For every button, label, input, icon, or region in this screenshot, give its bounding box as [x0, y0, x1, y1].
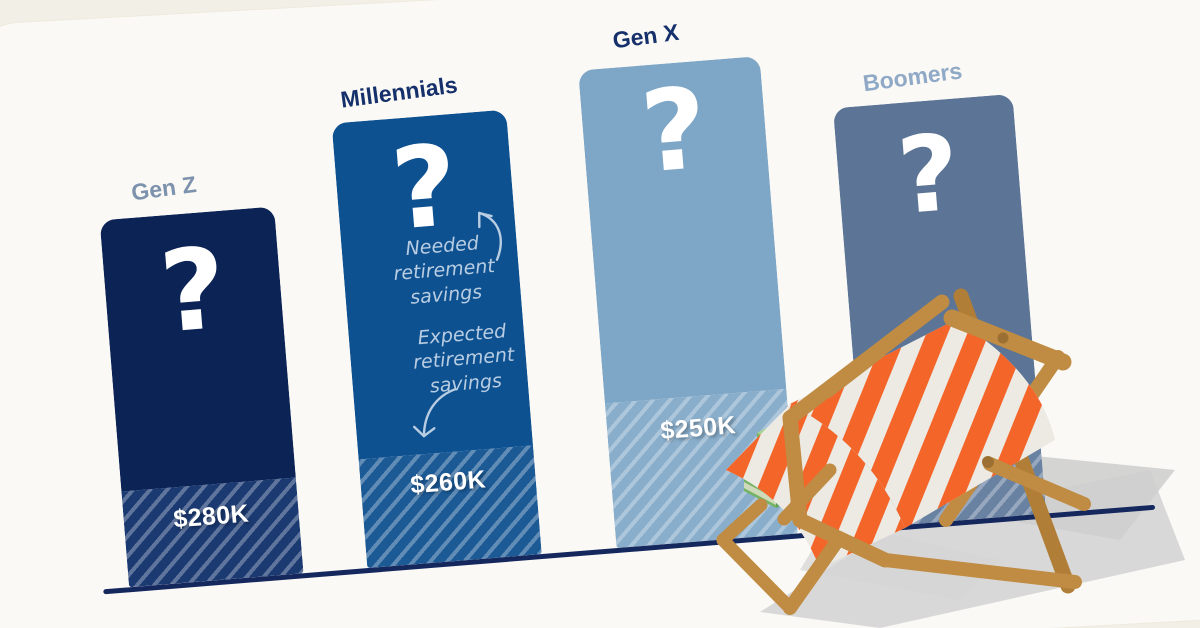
infographic-canvas: Gen Z ? $280K Millennials ? $260K Needed…: [0, 0, 1200, 628]
deck-chair-illustration: [0, 0, 1200, 628]
